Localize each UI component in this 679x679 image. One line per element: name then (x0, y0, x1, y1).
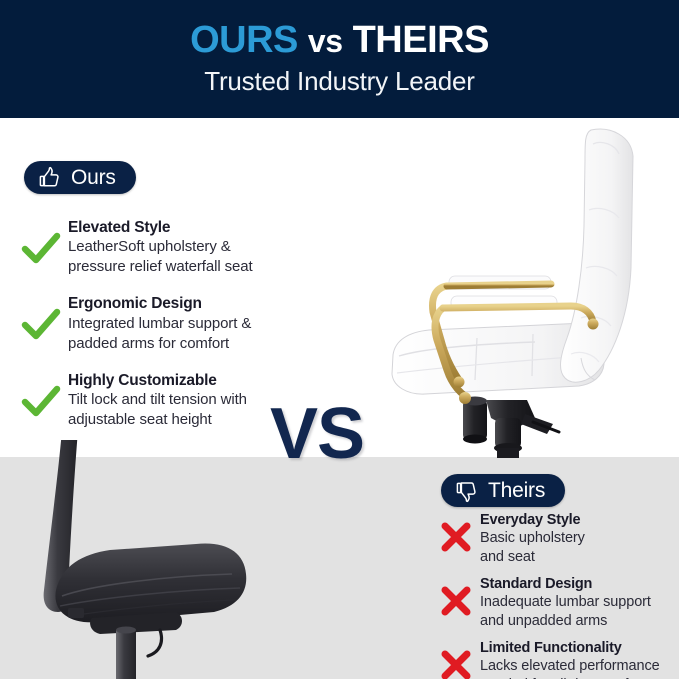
feature-text: Ergonomic Design Integrated lumbar suppo… (64, 294, 251, 353)
feature-title: Highly Customizable (68, 371, 247, 390)
chair-gas-cylinder (116, 630, 136, 679)
x-icon (436, 581, 476, 621)
feature-text: Elevated Style LeatherSoft upholstery &p… (64, 218, 253, 277)
list-item: Ergonomic Design Integrated lumbar suppo… (18, 294, 318, 353)
feature-title: Limited Functionality (480, 639, 660, 657)
title-theirs: THEIRS (353, 19, 489, 61)
feature-text: Highly Customizable Tilt lock and tilt t… (64, 371, 247, 430)
title-vs: vs (308, 23, 343, 59)
arm-cap-icon (459, 392, 471, 404)
page-title: OURS vs THEIRS (190, 21, 489, 61)
ours-product-image (385, 118, 679, 458)
theirs-feature-list: Everyday Style Basic upholsteryand seat … (436, 511, 679, 679)
feature-title: Ergonomic Design (68, 294, 251, 313)
feature-text: Standard Design Inadequate lumbar suppor… (476, 575, 651, 631)
ours-badge: Ours (24, 161, 136, 194)
theirs-product-image (0, 440, 290, 679)
feature-desc: Integrated lumbar support &padded arms f… (68, 314, 251, 354)
chair-seat (55, 544, 246, 623)
feature-desc: Tilt lock and tilt tension withadjustabl… (68, 390, 247, 430)
arm-cap-icon (454, 377, 465, 388)
feature-text: Limited Functionality Lacks elevated per… (476, 639, 660, 679)
page-subtitle: Trusted Industry Leader (204, 66, 474, 97)
chair-base-group (463, 397, 559, 459)
x-icon (436, 517, 476, 557)
feature-title: Standard Design (480, 575, 651, 593)
feature-title: Everyday Style (480, 511, 585, 529)
thumbs-up-icon (38, 166, 62, 190)
feature-title: Elevated Style (68, 218, 253, 237)
check-icon (18, 226, 64, 272)
feature-desc: Basic upholsteryand seat (480, 529, 585, 567)
list-item: Highly Customizable Tilt lock and tilt t… (18, 371, 318, 430)
ours-feature-list: Elevated Style LeatherSoft upholstery &p… (18, 218, 318, 447)
ours-badge-label: Ours (71, 167, 116, 188)
feature-desc: Inadequate lumbar supportand unpadded ar… (480, 593, 651, 631)
title-ours: OURS (190, 19, 298, 61)
list-item: Standard Design Inadequate lumbar suppor… (436, 575, 679, 631)
arm-cap-icon (588, 319, 599, 330)
comparison-infographic: OURS vs THEIRS Trusted Industry Leader (0, 0, 679, 679)
list-item: Limited Functionality Lacks elevated per… (436, 639, 679, 679)
theirs-badge: Theirs (441, 474, 565, 507)
list-item: Elevated Style LeatherSoft upholstery &p… (18, 218, 318, 277)
header-banner: OURS vs THEIRS Trusted Industry Leader (0, 0, 679, 118)
chair-backrest (561, 129, 633, 382)
chair-height-lever (148, 630, 162, 656)
feature-desc: Lacks elevated performanceneeded for all… (480, 657, 660, 679)
feature-desc: LeatherSoft upholstery &pressure relief … (68, 237, 253, 277)
list-item: Everyday Style Basic upholsteryand seat (436, 511, 679, 567)
thumbs-down-icon (455, 479, 479, 503)
check-icon (18, 379, 64, 425)
theirs-badge-label: Theirs (488, 480, 545, 501)
x-icon (436, 645, 476, 679)
feature-text: Everyday Style Basic upholsteryand seat (476, 511, 585, 567)
check-icon (18, 302, 64, 348)
